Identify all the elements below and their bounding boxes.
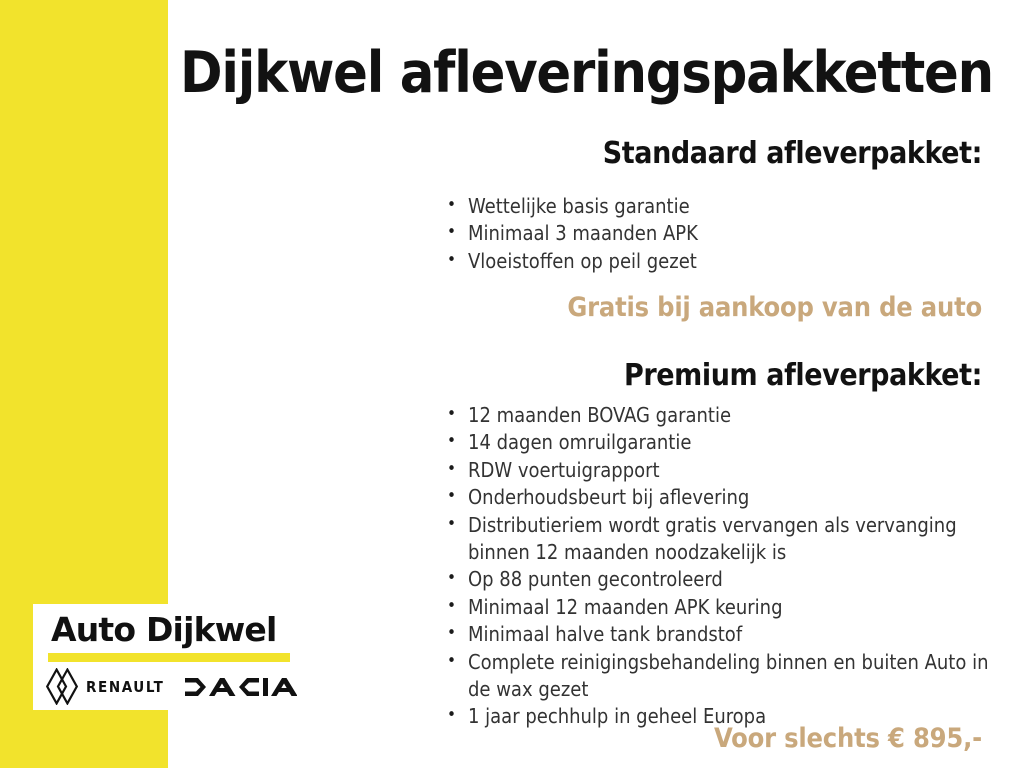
list-item: Distributieriem wordt gratis vervangen a… <box>446 512 1006 567</box>
premium-package-price: Voor slechts € 895,- <box>180 723 982 754</box>
heading-premium-afleverpakket: Premium afleverpakket: <box>180 358 982 393</box>
standaard-package-list: Wettelijke basis garantie Minimaal 3 maa… <box>446 193 1006 275</box>
standaard-package-accent: Gratis bij aankoop van de auto <box>180 292 982 323</box>
list-item: Complete reinigingsbehandeling binnen en… <box>446 649 1006 704</box>
list-item: Vloeistoffen op peil gezet <box>446 248 1006 275</box>
logo-underline-bar <box>48 653 290 662</box>
list-item: 14 dagen omruilgarantie <box>446 429 1006 456</box>
heading-standaard-afleverpakket: Standaard afleverpakket: <box>180 136 982 171</box>
page-title: Dijkwel afleveringspakketten <box>180 44 982 103</box>
list-item: Minimaal halve tank brandstof <box>446 621 1006 648</box>
list-item: Op 88 punten gecontroleerd <box>446 566 1006 593</box>
logo-wordmark: Auto Dijkwel <box>51 610 277 649</box>
premium-package-list: 12 maanden BOVAG garantie 14 dagen omrui… <box>446 402 1006 731</box>
list-item: RDW voertuigrapport <box>446 457 1006 484</box>
brand-renault-label: RENAULT <box>86 678 164 696</box>
list-item: Minimaal 12 maanden APK keuring <box>446 594 1006 621</box>
renault-diamond-icon <box>45 668 79 705</box>
list-item: Minimaal 3 maanden APK <box>446 220 1006 247</box>
list-item: Onderhoudsbeurt bij aflevering <box>446 484 1006 511</box>
dacia-wordmark-icon <box>185 677 297 697</box>
list-item: 12 maanden BOVAG garantie <box>446 402 1006 429</box>
brand-renault: RENAULT <box>45 668 164 705</box>
slide-root: Dijkwel afleveringspakketten Standaard a… <box>0 0 1024 768</box>
brand-dacia <box>185 677 297 697</box>
brand-logos: RENAULT <box>41 666 300 708</box>
company-logo-block: Auto Dijkwel RENAULT <box>33 604 300 710</box>
list-item: Wettelijke basis garantie <box>446 193 1006 220</box>
